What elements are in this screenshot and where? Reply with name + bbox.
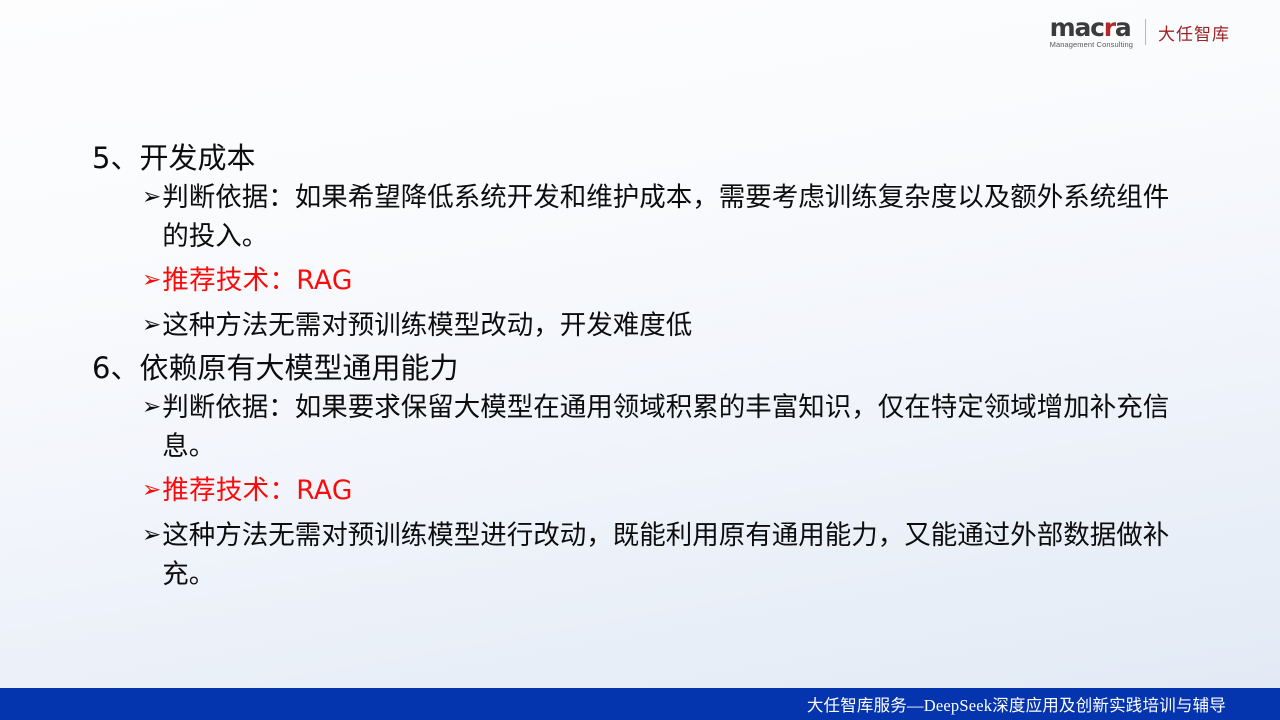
logo-word-tail: a [1115,13,1131,42]
bullet-item: ➢ 判断依据：如果希望降低系统开发和维护成本，需要考虑训练复杂度以及额外系统组件… [92,179,1182,256]
bullet-item-recommended: ➢ 推荐技术：RAG [92,472,1182,511]
bullet-item-recommended: ➢ 推荐技术：RAG [92,262,1182,301]
logo-mark: macra Management Consulting [1050,15,1145,49]
section-heading-5: 5、开发成本 [92,140,1182,177]
section-6-items: ➢ 判断依据：如果要求保留大模型在通用领域积累的丰富知识，仅在特定领域增加补充信… [92,389,1182,594]
slide-canvas: macra Management Consulting 大任智库 5、开发成本 … [0,0,1280,720]
bullet-item: ➢ 这种方法无需对预训练模型进行改动，既能利用原有通用能力，又能通过外部数据做补… [92,517,1182,594]
arrowhead-bullet-icon: ➢ [142,179,161,216]
logo-word-main: mac [1050,13,1104,42]
arrowhead-bullet-icon: ➢ [142,517,161,554]
logo-wordmark: macra [1050,15,1131,40]
arrowhead-bullet-icon: ➢ [142,389,161,426]
bullet-text: 这种方法无需对预训练模型改动，开发难度低 [162,307,1182,346]
bullet-item: ➢ 这种方法无需对预训练模型改动，开发难度低 [92,307,1182,346]
section-5-items: ➢ 判断依据：如果希望降低系统开发和维护成本，需要考虑训练复杂度以及额外系统组件… [92,179,1182,346]
section-heading-6: 6、依赖原有大模型通用能力 [92,350,1182,387]
logo-brand-cn: 大任智库 [1158,20,1230,45]
bullet-text: 判断依据：如果希望降低系统开发和维护成本，需要考虑训练复杂度以及额外系统组件的投… [162,179,1182,256]
logo-subtitle: Management Consulting [1050,41,1133,49]
footer-title: 大任智库服务—DeepSeek深度应用及创新实践培训与辅导 [807,692,1280,716]
slide-body: 5、开发成本 ➢ 判断依据：如果希望降低系统开发和维护成本，需要考虑训练复杂度以… [92,140,1182,598]
bullet-text: 推荐技术：RAG [162,262,1182,301]
arrowhead-bullet-icon: ➢ [142,262,161,299]
bullet-text: 这种方法无需对预训练模型进行改动，既能利用原有通用能力，又能通过外部数据做补充。 [162,517,1182,594]
logo-word-accent: r [1104,13,1115,42]
bullet-text: 判断依据：如果要求保留大模型在通用领域积累的丰富知识，仅在特定领域增加补充信息。 [162,389,1182,466]
brand-logo: macra Management Consulting 大任智库 [1050,14,1230,50]
bullet-text: 推荐技术：RAG [162,472,1182,511]
logo-divider [1145,19,1146,45]
bullet-item: ➢ 判断依据：如果要求保留大模型在通用领域积累的丰富知识，仅在特定领域增加补充信… [92,389,1182,466]
arrowhead-bullet-icon: ➢ [142,472,161,509]
slide-footer-bar: 大任智库服务—DeepSeek深度应用及创新实践培训与辅导 [0,688,1280,720]
arrowhead-bullet-icon: ➢ [142,307,161,344]
